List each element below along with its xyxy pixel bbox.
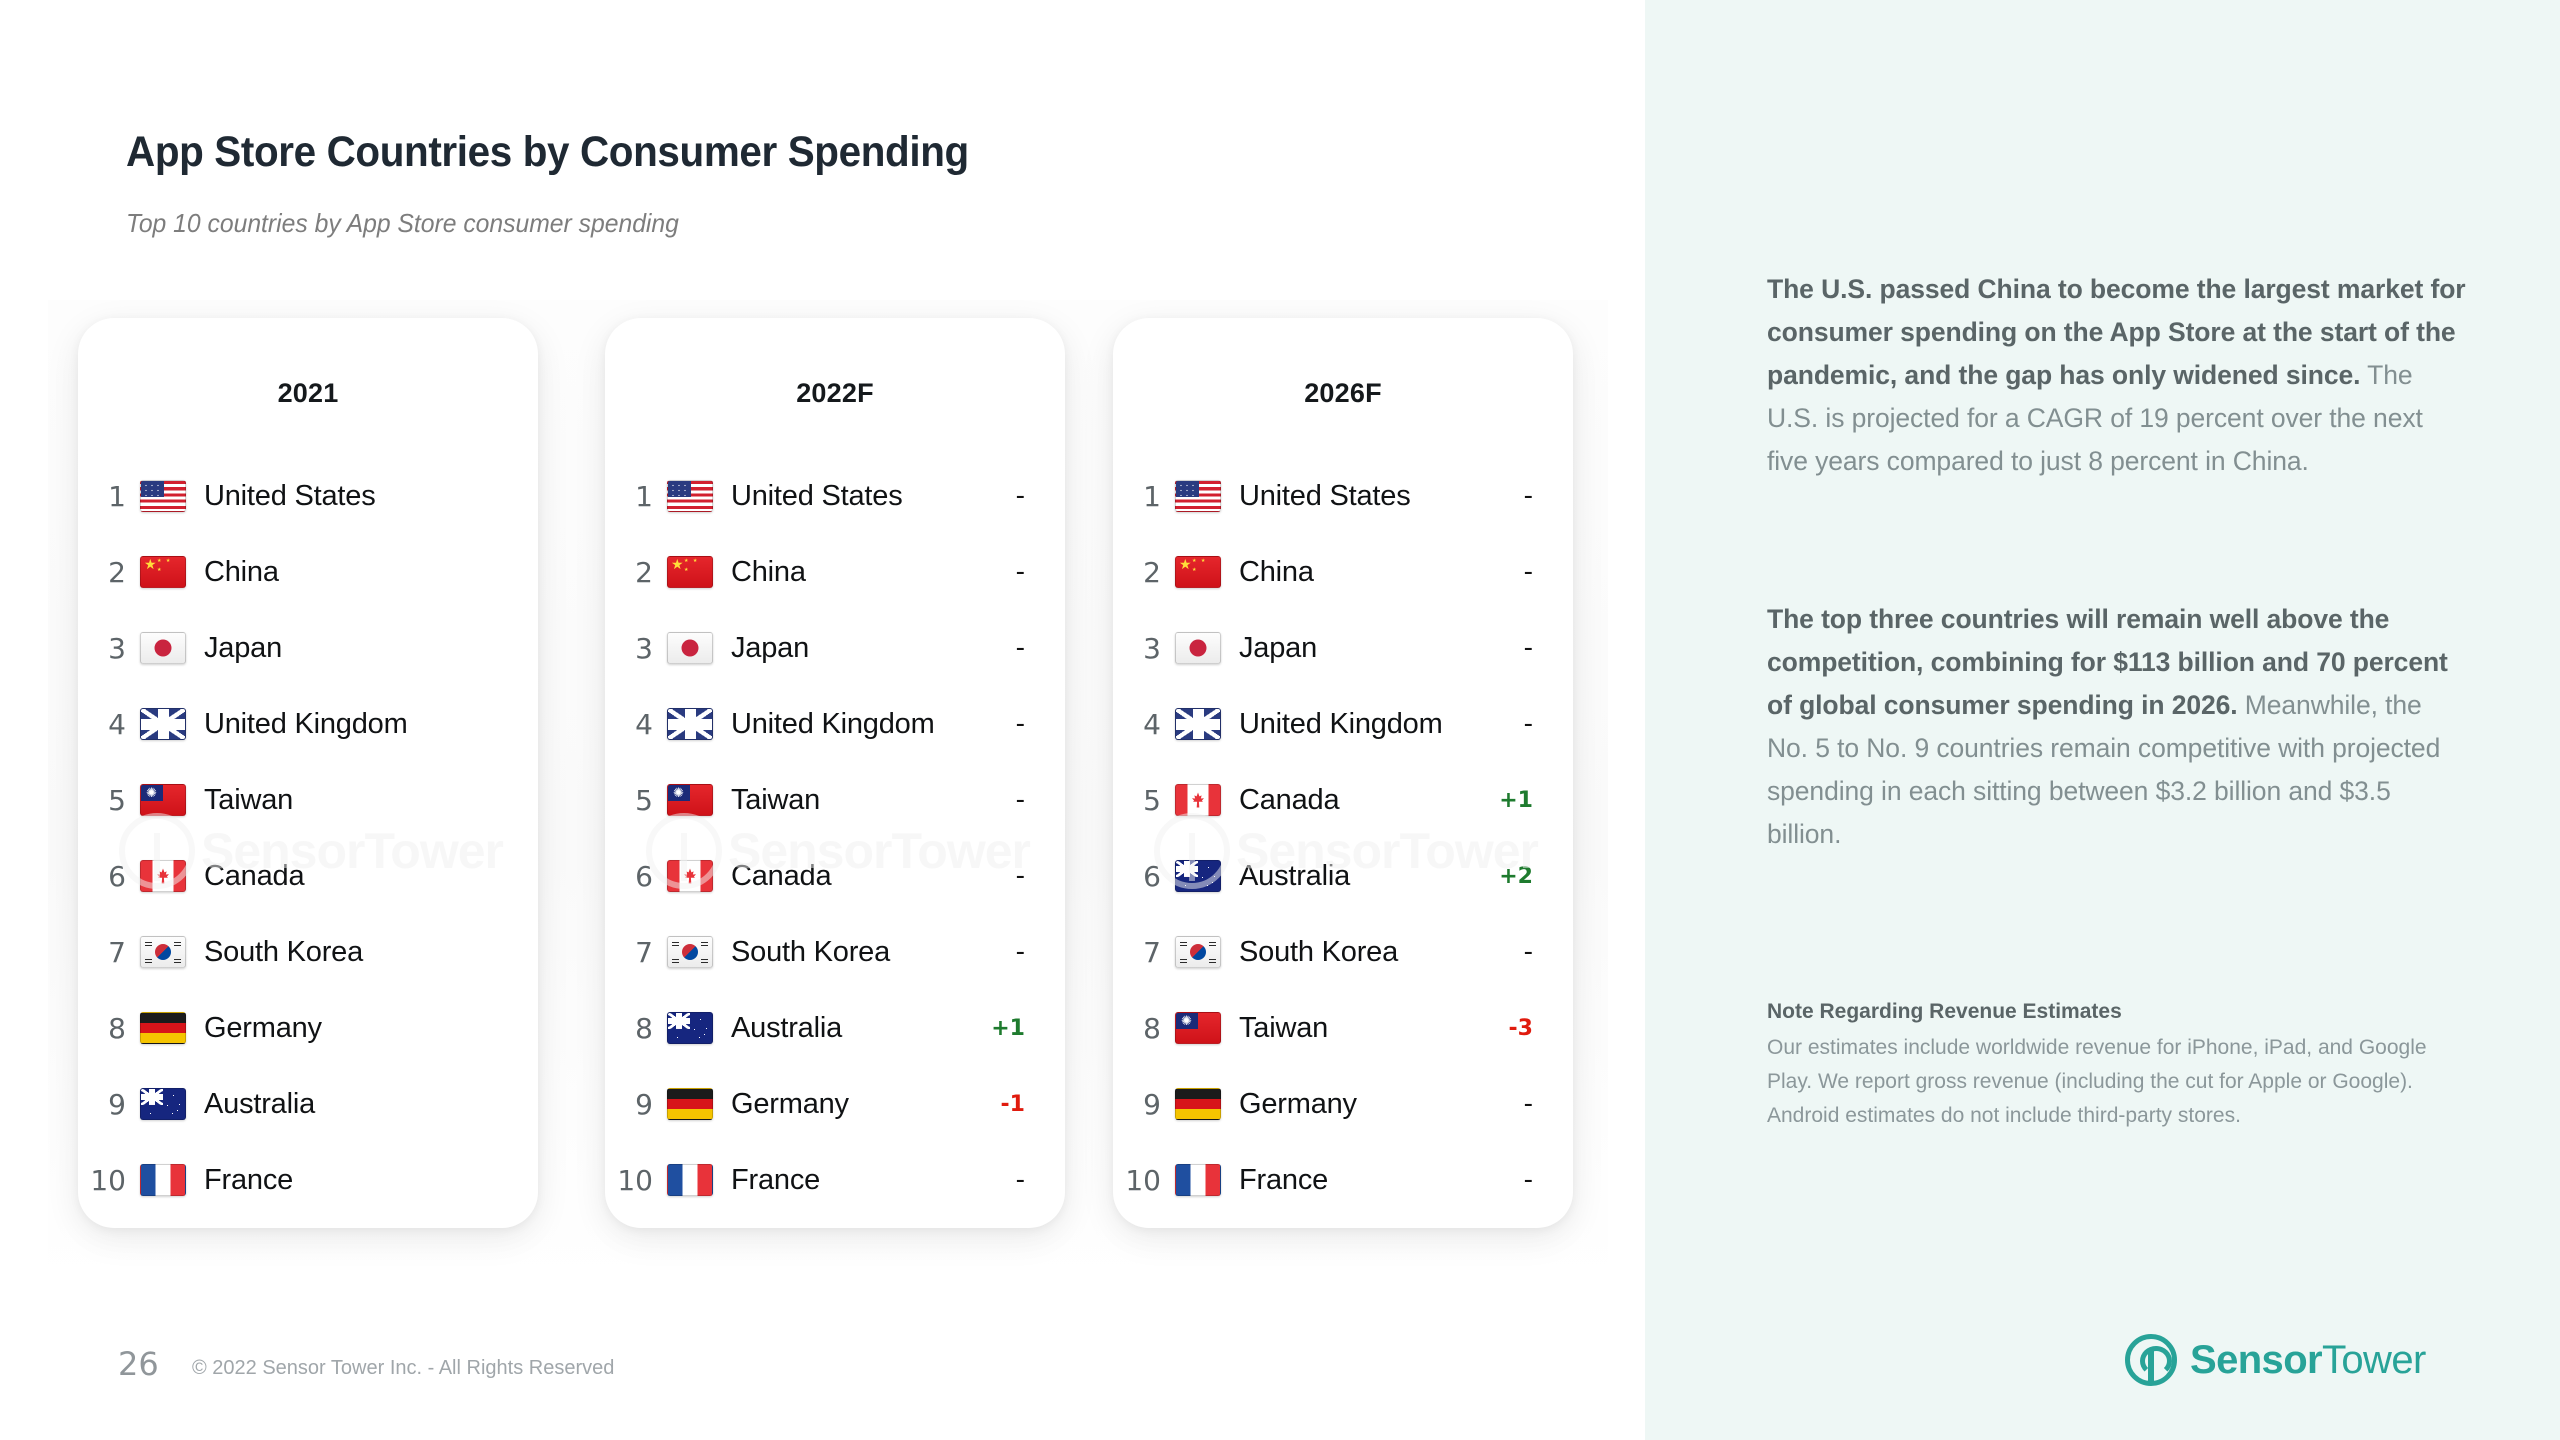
rank-change-badge: - (1524, 481, 1533, 511)
ranking-row[interactable]: 5Canada+1 (1113, 762, 1573, 838)
rank-number: 2 (605, 556, 667, 589)
country-name: France (731, 1164, 820, 1197)
rank-change-badge: +2 (1499, 864, 1533, 889)
logo-text-bold: Sensor (2190, 1338, 2322, 1382)
tw-flag-icon (1175, 1012, 1221, 1044)
ranking-row[interactable]: 9Germany-1 (605, 1066, 1065, 1142)
rank-number: 5 (605, 784, 667, 817)
country-name: Australia (204, 1088, 315, 1121)
rank-change-badge: - (1524, 1165, 1533, 1195)
ca-flag-icon (140, 860, 186, 892)
ranking-row[interactable]: 6Canada (78, 838, 538, 914)
rank-number: 2 (1113, 556, 1175, 589)
insight-paragraph-1: The U.S. passed China to become the larg… (1767, 268, 2467, 483)
ranking-row[interactable]: 3Japan- (1113, 610, 1573, 686)
rank-change-badge: - (1524, 633, 1533, 663)
rank-change-badge: - (1524, 709, 1533, 739)
ranking-row[interactable]: 2China- (605, 534, 1065, 610)
rank-number: 5 (1113, 784, 1175, 817)
rank-number: 3 (1113, 632, 1175, 665)
ranking-row[interactable]: 1United States- (1113, 458, 1573, 534)
rank-number: 4 (1113, 708, 1175, 741)
rank-number: 1 (78, 480, 140, 513)
rank-number: 10 (1113, 1164, 1175, 1197)
rank-number: 8 (78, 1012, 140, 1045)
ranking-row[interactable]: 8Australia+1 (605, 990, 1065, 1066)
de-flag-icon (140, 1012, 186, 1044)
note-body: Our estimates include worldwide revenue … (1767, 1031, 2467, 1133)
fr-flag-icon (667, 1164, 713, 1196)
main-panel: App Store Countries by Consumer Spending… (0, 0, 1645, 1440)
kr-flag-icon (1175, 936, 1221, 968)
au-flag-icon (140, 1088, 186, 1120)
ranking-row[interactable]: 5Taiwan (78, 762, 538, 838)
rank-number: 5 (78, 784, 140, 817)
rank-change-badge: - (1016, 481, 1025, 511)
ranking-list: 1United States2China3Japan4United Kingdo… (78, 458, 538, 1218)
country-name: United Kingdom (1239, 708, 1443, 741)
rank-change-badge: -1 (1001, 1092, 1025, 1117)
country-name: United Kingdom (204, 708, 408, 741)
ranking-row[interactable]: 10France- (1113, 1142, 1573, 1218)
rank-number: 6 (78, 860, 140, 893)
gb-flag-icon (1175, 708, 1221, 740)
ranking-card-2022f: 2022F1United States-2China-3Japan-4Unite… (605, 318, 1065, 1228)
ca-flag-icon (1175, 784, 1221, 816)
sensor-tower-wordmark: SensorTower (2190, 1338, 2426, 1383)
country-name: Taiwan (731, 784, 820, 817)
page-title: App Store Countries by Consumer Spending (126, 128, 969, 177)
au-flag-icon (1175, 860, 1221, 892)
rank-change-badge: - (1016, 633, 1025, 663)
rank-change-badge: - (1016, 937, 1025, 967)
fr-flag-icon (140, 1164, 186, 1196)
cn-flag-icon (667, 556, 713, 588)
ranking-row[interactable]: 4United Kingdom (78, 686, 538, 762)
rank-number: 3 (78, 632, 140, 665)
ranking-row[interactable]: 10France- (605, 1142, 1065, 1218)
rank-number: 8 (605, 1012, 667, 1045)
rank-change-badge: - (1524, 937, 1533, 967)
country-name: South Korea (1239, 936, 1398, 969)
country-name: United Kingdom (731, 708, 935, 741)
rank-change-badge: +1 (991, 1016, 1025, 1041)
ranking-row[interactable]: 4United Kingdom- (1113, 686, 1573, 762)
kr-flag-icon (667, 936, 713, 968)
card-title: 2026F (1113, 378, 1573, 409)
tw-flag-icon (667, 784, 713, 816)
rank-number: 7 (1113, 936, 1175, 969)
ranking-card-2026f: 2026F1United States-2China-3Japan-4Unite… (1113, 318, 1573, 1228)
us-flag-icon (667, 480, 713, 512)
note-title: Note Regarding Revenue Estimates (1767, 1000, 2467, 1024)
ranking-row[interactable]: 8Taiwan-3 (1113, 990, 1573, 1066)
country-name: Taiwan (1239, 1012, 1328, 1045)
ranking-row[interactable]: 6Canada- (605, 838, 1065, 914)
rank-change-badge: - (1524, 557, 1533, 587)
country-name: China (731, 556, 806, 589)
insights-sidebar: The U.S. passed China to become the larg… (1645, 0, 2560, 1440)
de-flag-icon (667, 1088, 713, 1120)
kr-flag-icon (140, 936, 186, 968)
ranking-row[interactable]: 10France (78, 1142, 538, 1218)
rank-change-badge: - (1016, 709, 1025, 739)
ranking-row[interactable]: 9Australia (78, 1066, 538, 1142)
ranking-row[interactable]: 1United States (78, 458, 538, 534)
rank-change-badge: - (1016, 785, 1025, 815)
country-name: Canada (1239, 784, 1339, 817)
rank-number: 2 (78, 556, 140, 589)
ranking-row[interactable]: 1United States- (605, 458, 1065, 534)
ranking-row[interactable]: 3Japan (78, 610, 538, 686)
rank-number: 9 (605, 1088, 667, 1121)
logo-text-light: Tower (2322, 1338, 2426, 1382)
cn-flag-icon (1175, 556, 1221, 588)
country-name: Canada (204, 860, 304, 893)
fr-flag-icon (1175, 1164, 1221, 1196)
tw-flag-icon (140, 784, 186, 816)
ranking-row[interactable]: 3Japan- (605, 610, 1065, 686)
ranking-row[interactable]: 7South Korea- (1113, 914, 1573, 990)
rank-number: 10 (605, 1164, 667, 1197)
ranking-list: 1United States-2China-3Japan-4United Kin… (1113, 458, 1573, 1218)
rank-number: 6 (605, 860, 667, 893)
ranking-row[interactable]: 8Germany (78, 990, 538, 1066)
us-flag-icon (140, 480, 186, 512)
country-name: France (204, 1164, 293, 1197)
ranking-row[interactable]: 4United Kingdom- (605, 686, 1065, 762)
country-name: France (1239, 1164, 1328, 1197)
de-flag-icon (1175, 1088, 1221, 1120)
rank-number: 1 (1113, 480, 1175, 513)
rank-number: 3 (605, 632, 667, 665)
footer-page-number: 26 (118, 1345, 159, 1383)
rank-change-badge: +1 (1499, 788, 1533, 813)
ranking-row[interactable]: 7South Korea- (605, 914, 1065, 990)
country-name: Taiwan (204, 784, 293, 817)
revenue-estimates-note: Note Regarding Revenue Estimates Our est… (1767, 1000, 2467, 1133)
jp-flag-icon (1175, 632, 1221, 664)
gb-flag-icon (140, 708, 186, 740)
rank-change-badge: - (1016, 1165, 1025, 1195)
ranking-row[interactable]: 9Germany- (1113, 1066, 1573, 1142)
rank-number: 10 (78, 1164, 140, 1197)
sensor-tower-mark-icon (2125, 1334, 2177, 1386)
ranking-row[interactable]: 2China (78, 534, 538, 610)
gb-flag-icon (667, 708, 713, 740)
sensor-tower-logo: SensorTower (2125, 1330, 2426, 1390)
country-name: United States (204, 480, 376, 513)
rank-number: 4 (605, 708, 667, 741)
rank-change-badge: - (1016, 861, 1025, 891)
country-name: Germany (731, 1088, 849, 1121)
rank-number: 6 (1113, 860, 1175, 893)
country-name: Japan (204, 632, 282, 665)
rank-number: 9 (78, 1088, 140, 1121)
ca-flag-icon (667, 860, 713, 892)
country-name: Australia (731, 1012, 842, 1045)
rank-number: 7 (78, 936, 140, 969)
ranking-row[interactable]: 7South Korea (78, 914, 538, 990)
country-name: China (1239, 556, 1314, 589)
rank-number: 8 (1113, 1012, 1175, 1045)
us-flag-icon (1175, 480, 1221, 512)
card-title: 2022F (605, 378, 1065, 409)
country-name: United States (731, 480, 903, 513)
footer-copyright: © 2022 Sensor Tower Inc. - All Rights Re… (192, 1357, 614, 1380)
country-name: Germany (1239, 1088, 1357, 1121)
rank-change-badge: -3 (1509, 1016, 1533, 1041)
country-name: South Korea (731, 936, 890, 969)
rank-change-badge: - (1524, 1089, 1533, 1119)
ranking-card-2021: 20211United States2China3Japan4United Ki… (78, 318, 538, 1228)
jp-flag-icon (667, 632, 713, 664)
rank-number: 1 (605, 480, 667, 513)
country-name: Australia (1239, 860, 1350, 893)
card-title: 2021 (78, 378, 538, 409)
country-name: Canada (731, 860, 831, 893)
rank-number: 4 (78, 708, 140, 741)
ranking-row[interactable]: 6Australia+2 (1113, 838, 1573, 914)
insight-paragraph-2: The top three countries will remain well… (1767, 598, 2467, 856)
au-flag-icon (667, 1012, 713, 1044)
rank-change-badge: - (1016, 557, 1025, 587)
country-name: United States (1239, 480, 1411, 513)
ranking-row[interactable]: 5Taiwan- (605, 762, 1065, 838)
page-subtitle: Top 10 countries by App Store consumer s… (126, 208, 679, 239)
cn-flag-icon (140, 556, 186, 588)
jp-flag-icon (140, 632, 186, 664)
ranking-list: 1United States-2China-3Japan-4United Kin… (605, 458, 1065, 1218)
rank-number: 9 (1113, 1088, 1175, 1121)
country-name: China (204, 556, 279, 589)
country-name: Japan (731, 632, 809, 665)
rank-number: 7 (605, 936, 667, 969)
ranking-row[interactable]: 2China- (1113, 534, 1573, 610)
country-name: Japan (1239, 632, 1317, 665)
country-name: South Korea (204, 936, 363, 969)
country-name: Germany (204, 1012, 322, 1045)
